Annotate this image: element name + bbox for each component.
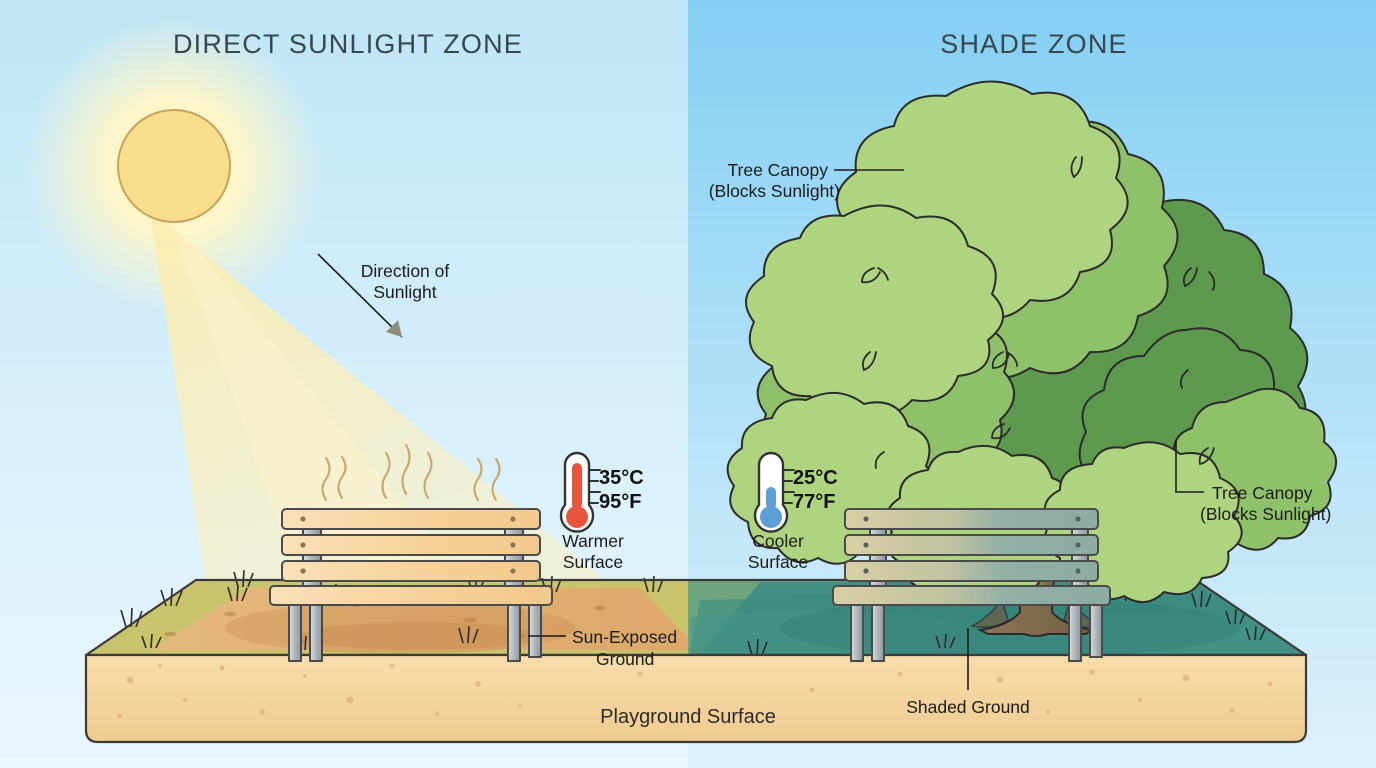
thermometer-cool-caption-line1: Cooler	[752, 531, 804, 551]
canopy-right-label-line2: (Blocks Sunlight)	[1200, 504, 1331, 524]
thermometer-warm-celsius: 35°C	[599, 467, 644, 489]
shaded-ground-label: Shaded Ground	[906, 697, 1030, 717]
title-direct-sunlight-zone: DIRECT SUNLIGHT ZONE	[173, 29, 523, 59]
thermometer-cool-fahrenheit: 77°F	[793, 491, 835, 513]
thermometer-cool-caption-line2: Surface	[748, 552, 808, 572]
thermometer-cool-celsius: 25°C	[793, 467, 838, 489]
sun-exposed-ground-label-line2: Ground	[596, 649, 654, 669]
platform-front-face	[86, 655, 1306, 742]
sun-exposed-ground-label-line1: Sun-Exposed	[572, 627, 677, 647]
diagram-canvas: DIRECT SUNLIGHT ZONE SHADE ZONE Directio…	[0, 0, 1376, 768]
sun-icon	[118, 110, 230, 222]
thermometer-warm-caption-line1: Warmer	[562, 531, 624, 551]
sunlight-direction-label-line1: Direction of	[361, 261, 450, 281]
canopy-right-label-line1: Tree Canopy	[1212, 483, 1313, 503]
playground-surface-label: Playground Surface	[600, 706, 776, 728]
thermometer-warm-caption-line2: Surface	[563, 552, 623, 572]
canopy-top-label-line1: Tree Canopy	[727, 160, 828, 180]
thermometer-warm-fahrenheit: 95°F	[599, 491, 641, 513]
title-shade-zone: SHADE ZONE	[940, 29, 1128, 59]
canopy-top-label-line2: (Blocks Sunlight)	[709, 181, 840, 201]
sunlight-direction-label-line2: Sunlight	[373, 282, 436, 302]
